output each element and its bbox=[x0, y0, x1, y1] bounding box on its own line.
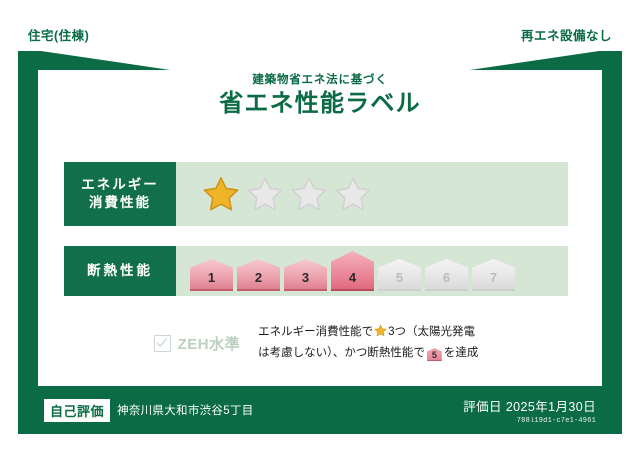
label-footer: 自己評価 神奈川県大和市渋谷5丁目 評価日 2025年1月30日 788l19d… bbox=[18, 386, 622, 434]
evaluation-date-value: 2025年1月30日 bbox=[506, 400, 596, 414]
zeh-badge: ZEH水準 bbox=[154, 333, 241, 354]
energy-label-line2: 消費性能 bbox=[89, 194, 151, 212]
zeh-desc-line2-pre: は考慮しない）、かつ断熱性能で bbox=[258, 347, 425, 359]
energy-performance-label-card: 住宅(住棟) 再エネ設備なし 建築物省エネ法に基づく 省エネ性能ラベル エネルギ… bbox=[18, 18, 622, 434]
evaluation-date: 評価日 2025年1月30日 bbox=[463, 396, 596, 415]
insulation-performance-label: 断熱性能 bbox=[64, 246, 176, 296]
zeh-checkbox-icon bbox=[154, 335, 171, 352]
property-address: 神奈川県大和市渋谷5丁目 bbox=[117, 402, 254, 418]
inline-star-icon bbox=[374, 324, 387, 344]
insulation-level-chip: 7 bbox=[472, 259, 515, 291]
star-empty-icon bbox=[334, 175, 372, 213]
document-id: 788l19d1-c7e1-4961 bbox=[463, 417, 596, 425]
star-filled-icon bbox=[202, 175, 240, 213]
evaluation-date-label: 評価日 bbox=[463, 400, 502, 414]
star-rating-track bbox=[176, 162, 568, 226]
insulation-level-chip: 6 bbox=[425, 259, 468, 291]
insulation-level-chip: 4 bbox=[331, 251, 374, 291]
energy-performance-row: エネルギー 消費性能 bbox=[64, 162, 568, 226]
building-type-tab: 住宅(住棟) bbox=[18, 18, 99, 51]
footer-right-group: 評価日 2025年1月30日 788l19d1-c7e1-4961 bbox=[463, 396, 596, 425]
energy-performance-label: エネルギー 消費性能 bbox=[64, 162, 176, 226]
page-title: 省エネ性能ラベル bbox=[18, 90, 622, 118]
footer-left-group: 自己評価 神奈川県大和市渋谷5丁目 bbox=[44, 399, 254, 422]
insulation-level-chip: 3 bbox=[284, 259, 327, 291]
zeh-desc-line1-pre: エネルギー消費性能で bbox=[258, 326, 373, 338]
zeh-standard-block: ZEH水準 エネルギー消費性能で 3つ（太陽光発電 は考慮しない）、かつ断熱性能… bbox=[64, 314, 568, 372]
insulation-level-scale: 1234567 bbox=[190, 251, 515, 291]
heading-subtitle: 建築物省エネ法に基づく bbox=[18, 74, 622, 87]
insulation-level-chip: 5 bbox=[378, 259, 421, 291]
insulation-scale-track: 1234567 bbox=[176, 246, 568, 296]
insulation-performance-row: 断熱性能 1234567 bbox=[64, 246, 568, 296]
energy-label-line1: エネルギー bbox=[81, 176, 159, 194]
star-empty-icon bbox=[290, 175, 328, 213]
insulation-level-chip: 1 bbox=[190, 259, 233, 291]
zeh-desc-line2-post: を達成 bbox=[444, 347, 479, 359]
label-heading: 建築物省エネ法に基づく 省エネ性能ラベル bbox=[18, 74, 622, 117]
zeh-desc-line1-post: 3つ（太陽光発電 bbox=[388, 326, 475, 338]
self-assessment-badge: 自己評価 bbox=[44, 399, 110, 422]
inline-insulation-chip: 5 bbox=[427, 348, 442, 361]
zeh-description: エネルギー消費性能で 3つ（太陽光発電 は考慮しない）、かつ断熱性能で5を達成 bbox=[258, 323, 478, 363]
star-empty-icon bbox=[246, 175, 284, 213]
insulation-level-chip: 2 bbox=[237, 259, 280, 291]
renewable-equipment-tab: 再エネ設備なし bbox=[511, 18, 622, 51]
zeh-label: ZEH水準 bbox=[178, 333, 241, 354]
